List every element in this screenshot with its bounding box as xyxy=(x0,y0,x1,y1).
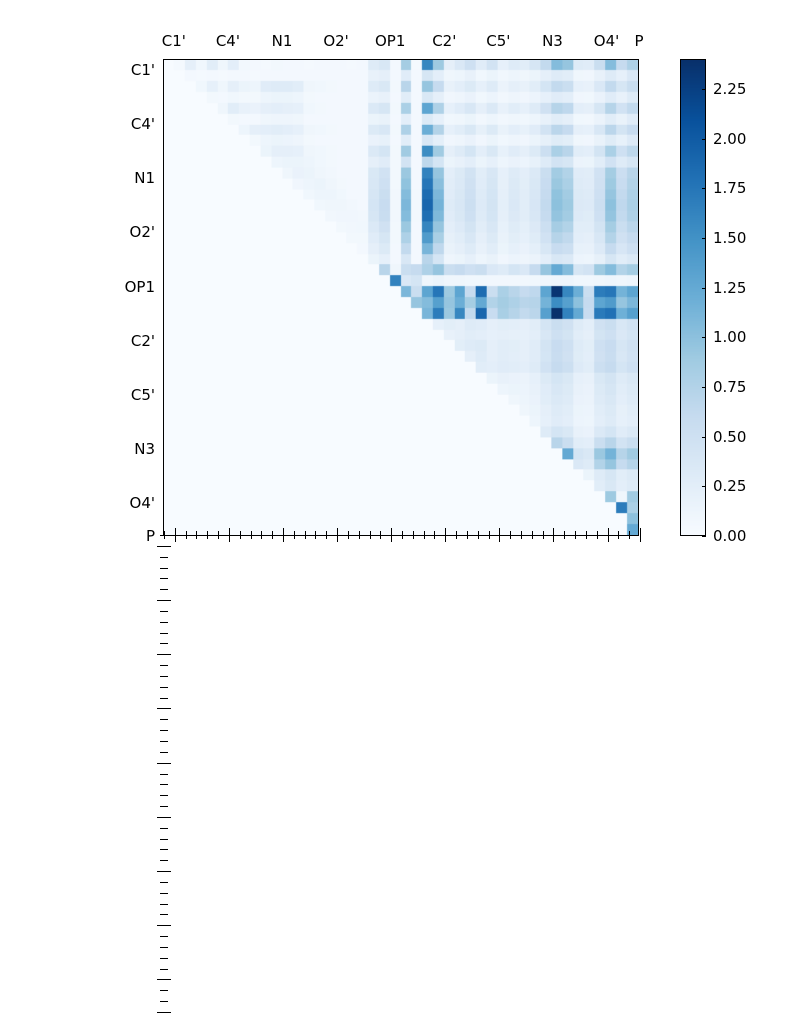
axis-tick xyxy=(380,535,381,539)
axis-tick xyxy=(157,763,164,764)
axis-tick xyxy=(164,990,168,991)
axis-tick xyxy=(543,535,544,539)
y-tick-label: C2' xyxy=(101,332,155,350)
axis-tick xyxy=(160,904,164,905)
axis-tick xyxy=(157,546,164,547)
colorbar-tick-label: 2.25 xyxy=(713,80,746,98)
axis-tick xyxy=(160,795,164,796)
axis-tick xyxy=(164,611,168,612)
axis-tick xyxy=(218,535,219,539)
colorbar-tick xyxy=(702,188,706,189)
x-tick-label: C2' xyxy=(432,32,456,50)
y-tick-label: N1 xyxy=(101,169,155,187)
axis-tick xyxy=(160,611,164,612)
axis-tick xyxy=(164,925,171,926)
axis-tick xyxy=(160,990,164,991)
axis-tick xyxy=(164,665,168,666)
axis-tick xyxy=(160,643,164,644)
axis-tick xyxy=(160,633,164,634)
axis-tick xyxy=(326,535,327,539)
colorbar-tick-label: 0.00 xyxy=(713,527,746,545)
axis-tick xyxy=(164,654,171,655)
axis-tick xyxy=(164,719,168,720)
x-tick-label: O4' xyxy=(594,32,619,50)
axis-tick xyxy=(251,535,252,539)
axis-tick xyxy=(160,665,164,666)
axis-tick xyxy=(164,947,168,948)
axis-tick xyxy=(160,882,164,883)
axis-tick xyxy=(240,535,241,539)
axis-tick xyxy=(597,535,598,539)
axis-tick xyxy=(160,1001,164,1002)
axis-tick xyxy=(434,535,435,539)
y-tick-label: OP1 xyxy=(101,278,155,296)
axis-tick xyxy=(629,535,630,539)
axis-tick xyxy=(499,535,500,542)
axis-tick xyxy=(157,871,164,872)
axis-tick xyxy=(160,958,164,959)
y-tick-label: O2' xyxy=(101,223,155,241)
axis-tick xyxy=(160,676,164,677)
axis-tick xyxy=(164,698,168,699)
axis-tick xyxy=(160,578,164,579)
y-tick-label: O4' xyxy=(101,494,155,512)
axis-tick xyxy=(160,568,164,569)
axis-tick xyxy=(164,817,171,818)
axis-tick xyxy=(478,535,479,539)
axis-tick xyxy=(160,947,164,948)
axis-tick xyxy=(196,535,197,539)
axis-tick xyxy=(618,535,619,539)
axis-tick xyxy=(164,568,168,569)
axis-tick xyxy=(164,633,168,634)
axis-tick xyxy=(160,969,164,970)
colorbar-tick-label: 1.50 xyxy=(713,229,746,247)
axis-tick xyxy=(164,882,168,883)
axis-tick xyxy=(553,535,554,542)
axis-tick xyxy=(164,860,168,861)
colorbar-tick xyxy=(702,536,706,537)
colorbar-tick xyxy=(702,238,706,239)
axis-tick xyxy=(160,893,164,894)
axis-tick xyxy=(160,687,164,688)
axis-tick xyxy=(160,828,164,829)
colorbar-tick-label: 1.25 xyxy=(713,279,746,297)
colorbar-tick xyxy=(702,486,706,487)
axis-tick xyxy=(160,839,164,840)
axis-tick xyxy=(164,535,168,536)
axis-tick xyxy=(229,535,230,542)
axis-tick xyxy=(608,535,609,542)
axis-tick xyxy=(157,925,164,926)
axis-tick xyxy=(164,893,168,894)
axis-tick xyxy=(261,535,262,539)
axis-tick xyxy=(489,535,490,539)
colorbar-tick-label: 0.50 xyxy=(713,428,746,446)
axis-tick xyxy=(164,795,168,796)
colorbar-tick-label: 1.00 xyxy=(713,328,746,346)
axis-tick xyxy=(164,849,168,850)
axis-tick xyxy=(348,535,349,539)
axis-tick xyxy=(160,698,164,699)
colorbar-tick-label: 1.75 xyxy=(713,179,746,197)
axis-tick xyxy=(164,622,168,623)
axis-tick xyxy=(164,784,168,785)
heatmap-axes[interactable] xyxy=(163,59,639,536)
axis-tick xyxy=(164,969,168,970)
axis-tick xyxy=(160,741,164,742)
colorbar-tick xyxy=(702,139,706,140)
colorbar-tick xyxy=(702,437,706,438)
colorbar-tick-label: 2.00 xyxy=(713,130,746,148)
axis-tick xyxy=(164,687,168,688)
axis-tick xyxy=(175,535,176,542)
axis-tick xyxy=(521,535,522,539)
axis-tick xyxy=(413,535,414,539)
axis-tick xyxy=(532,535,533,539)
y-tick-label: P xyxy=(101,527,155,545)
axis-tick xyxy=(510,535,511,539)
x-tick-label: N1 xyxy=(272,32,293,50)
axis-tick xyxy=(164,546,171,547)
axis-tick xyxy=(164,741,168,742)
axis-tick xyxy=(164,828,168,829)
axis-tick xyxy=(164,557,168,558)
axis-tick xyxy=(157,600,164,601)
axis-tick xyxy=(391,535,392,542)
axis-tick xyxy=(160,622,164,623)
axis-tick xyxy=(315,535,316,539)
colorbar-tick xyxy=(702,387,706,388)
x-tick-label: O2' xyxy=(323,32,348,50)
axis-tick xyxy=(164,806,168,807)
axis-tick xyxy=(283,535,284,542)
axis-tick xyxy=(164,535,165,539)
axis-tick xyxy=(445,535,446,542)
y-tick-label: C5' xyxy=(101,386,155,404)
y-tick-label: C4' xyxy=(101,115,155,133)
axis-tick xyxy=(164,1001,168,1002)
axis-tick xyxy=(467,535,468,539)
heatmap-image[interactable] xyxy=(164,60,638,535)
axis-tick xyxy=(164,578,168,579)
axis-tick xyxy=(164,839,168,840)
colorbar-tick xyxy=(702,337,706,338)
x-tick-label: P xyxy=(634,32,643,50)
axis-tick xyxy=(164,730,168,731)
axis-tick xyxy=(164,763,171,764)
axis-tick xyxy=(186,535,187,539)
colorbar-axes[interactable] xyxy=(680,59,706,536)
axis-tick xyxy=(157,817,164,818)
axis-tick xyxy=(456,535,457,539)
colorbar-tick-label: 0.25 xyxy=(713,477,746,495)
x-tick-label: C4' xyxy=(216,32,240,50)
axis-tick xyxy=(359,535,360,539)
heatmap-figure: C1'C4'N1O2'OP1C2'C5'N3O4'P C1'C4'N1O2'OP… xyxy=(0,0,800,600)
x-tick-label: C1' xyxy=(162,32,186,50)
axis-tick xyxy=(402,535,403,539)
axis-tick xyxy=(160,752,164,753)
axis-tick xyxy=(160,719,164,720)
y-tick-label: N3 xyxy=(101,440,155,458)
axis-tick xyxy=(640,528,641,535)
axis-tick xyxy=(640,535,641,542)
axis-tick xyxy=(160,589,164,590)
axis-tick xyxy=(164,589,168,590)
axis-tick xyxy=(575,535,576,539)
axis-tick xyxy=(272,535,273,539)
x-tick-label: N3 xyxy=(542,32,563,50)
axis-tick xyxy=(164,600,171,601)
axis-tick xyxy=(164,914,168,915)
axis-tick xyxy=(160,730,164,731)
axis-tick xyxy=(160,806,164,807)
axis-tick xyxy=(164,752,168,753)
axis-tick xyxy=(160,860,164,861)
axis-tick xyxy=(164,871,171,872)
axis-tick xyxy=(164,904,168,905)
axis-tick xyxy=(160,936,164,937)
axis-tick xyxy=(586,535,587,539)
axis-tick xyxy=(164,958,168,959)
axis-tick xyxy=(164,774,168,775)
axis-tick xyxy=(370,535,371,539)
axis-tick xyxy=(305,535,306,539)
axis-tick xyxy=(157,979,164,980)
axis-tick xyxy=(294,535,295,539)
axis-tick xyxy=(564,535,565,539)
axis-tick xyxy=(160,784,164,785)
axis-tick xyxy=(157,654,164,655)
axis-tick xyxy=(164,676,168,677)
colorbar-tick-label: 0.75 xyxy=(713,378,746,396)
axis-tick xyxy=(164,936,168,937)
axis-tick xyxy=(160,914,164,915)
axis-tick xyxy=(337,535,338,542)
axis-tick xyxy=(164,643,168,644)
x-tick-label: C5' xyxy=(486,32,510,50)
axis-tick xyxy=(164,979,171,980)
axis-tick xyxy=(207,535,208,539)
axis-tick xyxy=(160,849,164,850)
axis-tick xyxy=(157,708,164,709)
axis-tick xyxy=(164,708,171,709)
axis-tick xyxy=(160,774,164,775)
axis-tick xyxy=(160,535,164,536)
colorbar-tick xyxy=(702,288,706,289)
colorbar-gradient xyxy=(681,60,705,535)
axis-tick xyxy=(424,535,425,539)
colorbar-tick xyxy=(702,89,706,90)
y-tick-label: C1' xyxy=(101,61,155,79)
x-tick-label: OP1 xyxy=(375,32,405,50)
axis-tick xyxy=(160,557,164,558)
